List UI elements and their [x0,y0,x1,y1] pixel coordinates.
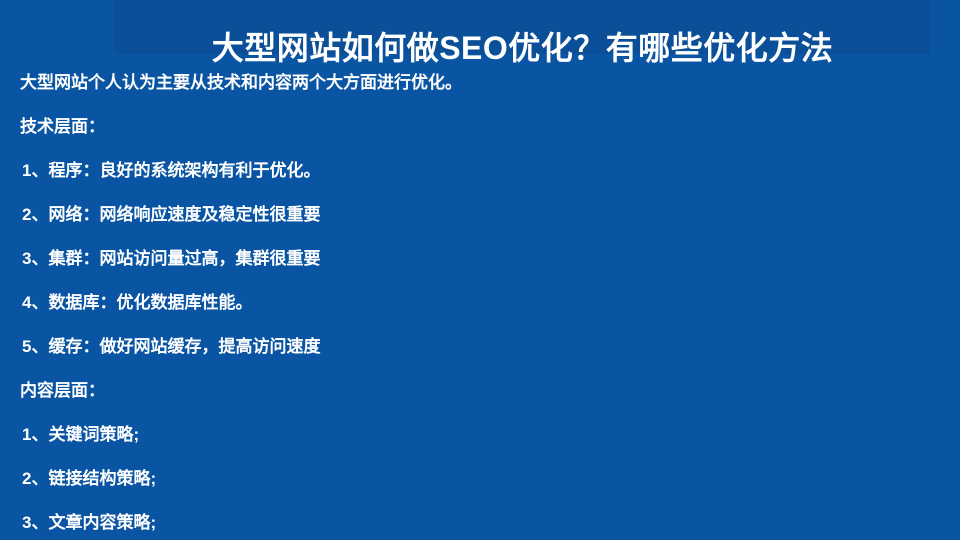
list-item: 2、网络：网络响应速度及稳定性很重要 [20,192,940,236]
list-item: 2、链接结构策略; [20,456,940,500]
list-item: 3、文章内容策略; [20,500,940,540]
list-item: 4、数据库：优化数据库性能。 [20,280,940,324]
section-heading-technical: 技术层面： [20,104,940,148]
list-item: 1、程序：良好的系统架构有利于优化。 [20,148,940,192]
list-item: 1、关键词策略; [20,412,940,456]
section-heading-content: 内容层面： [20,368,940,412]
slide-body: 大型网站个人认为主要从技术和内容两个大方面进行优化。 技术层面： 1、程序：良好… [20,60,940,540]
body-line-intro: 大型网站个人认为主要从技术和内容两个大方面进行优化。 [20,60,940,104]
slide-canvas: 大型网站如何做SEO优化？有哪些优化方法 大型网站个人认为主要从技术和内容两个大… [0,0,960,540]
list-item: 3、集群：网站访问量过高，集群很重要 [20,236,940,280]
list-item: 5、缓存：做好网站缓存，提高访问速度 [20,324,940,368]
